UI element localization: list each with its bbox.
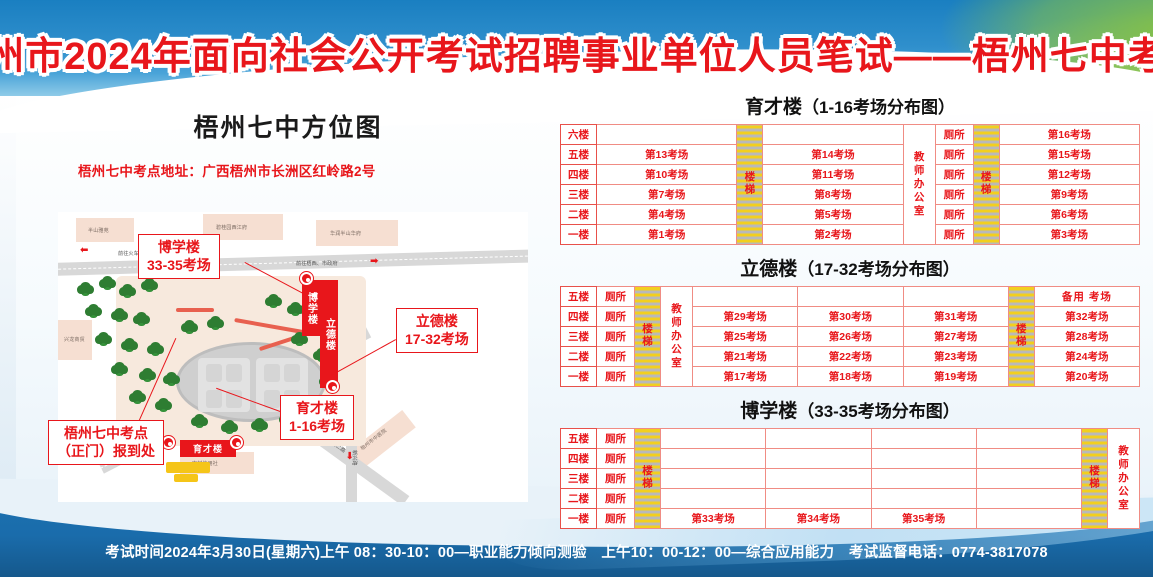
map-tree	[136, 312, 147, 323]
cell-floor: 五楼	[561, 429, 597, 449]
map-court	[226, 364, 242, 382]
table-lide: 五楼 厕所 楼梯 教师办公室 楼梯 备用 考场 四楼 厕所 第29考场 第30考…	[560, 286, 1140, 387]
callout-yucai: 育才楼 1-16考场	[280, 395, 354, 440]
cell-room: 第30考场	[798, 307, 903, 327]
map-tree	[122, 284, 133, 295]
cell-room	[766, 469, 871, 489]
cell-room: 第11考场	[763, 165, 903, 185]
table-row: 六楼 楼梯 教师办公室 厕所 楼梯 第16考场	[561, 125, 1140, 145]
cell-room: 第22考场	[798, 347, 903, 367]
map-address: 梧州七中考点地址：广西梧州市长洲区红岭路2号	[78, 160, 558, 180]
cell-room: 第9考场	[999, 185, 1139, 205]
cell-wc: 厕所	[597, 287, 635, 307]
cell-room: 第24考场	[1034, 347, 1139, 367]
map-tree	[268, 294, 279, 305]
map-tree	[142, 368, 153, 379]
cell-floor: 三楼	[561, 327, 597, 347]
cell-room: 第1考场	[597, 225, 737, 245]
callout-line1: 博学楼	[147, 239, 211, 257]
table-title-lide: 立德楼（17-32考场分布图）	[560, 254, 1140, 281]
cell-wc: 厕所	[597, 347, 635, 367]
cell-room	[597, 125, 737, 145]
cell-stairs-left: 楼梯	[635, 287, 661, 387]
map-tree	[184, 320, 195, 331]
map-tree	[158, 398, 169, 409]
cell-room: 第25考场	[693, 327, 798, 347]
table-title-boxue: 博学楼（33-35考场分布图）	[560, 396, 1140, 423]
map-tree	[144, 278, 155, 289]
table-title-paren: （33-35考场分布图）	[797, 402, 959, 421]
map-tree	[124, 338, 135, 349]
cell-office: 教师办公室	[903, 125, 935, 245]
cell-wc: 厕所	[597, 489, 635, 509]
cell-office: 教师办公室	[1108, 429, 1140, 529]
stairs-label: 楼梯	[742, 171, 757, 196]
map-tree	[132, 390, 143, 401]
map-building-yucai: 育才楼	[180, 440, 236, 457]
callout-line2: 33-35考场	[147, 257, 211, 275]
cell-room	[871, 429, 976, 449]
cell-room: 第12考场	[999, 165, 1139, 185]
cell-wc: 厕所	[597, 327, 635, 347]
map-pin-lide[interactable]	[326, 380, 339, 393]
map-building-boxue: 博学楼	[302, 280, 320, 336]
cell-floor: 二楼	[561, 489, 597, 509]
cell-wc: 厕所	[935, 205, 973, 225]
arrow-down-icon: ➡	[344, 451, 355, 459]
cell-floor: 一楼	[561, 225, 597, 245]
cell-room	[976, 449, 1081, 469]
stairs-label: 楼梯	[1087, 465, 1102, 490]
table-yucai: 六楼 楼梯 教师办公室 厕所 楼梯 第16考场 五楼 第13考场 第14考场 厕…	[560, 124, 1140, 245]
cell-room: 第4考场	[597, 205, 737, 225]
arrow-left-icon: ⬅	[80, 245, 88, 256]
cell-room	[903, 287, 1008, 307]
table-row: 四楼 第10考场 第11考场 厕所 第12考场	[561, 165, 1140, 185]
cell-stairs-left: 楼梯	[635, 429, 661, 529]
cell-room	[976, 429, 1081, 449]
map-tree	[88, 304, 99, 315]
map-tree	[194, 414, 205, 425]
cell-stairs-right: 楼梯	[973, 125, 999, 245]
footer-bar: 考试时间2024年3月30日(星期六)上午 08：30-10：00—职业能力倾向…	[0, 525, 1153, 577]
map-tree	[114, 362, 125, 373]
arrow-right-icon: ➡	[370, 256, 378, 267]
map-tree	[290, 302, 301, 313]
table-title-main: 博学楼	[740, 401, 797, 422]
map-tree	[254, 418, 265, 429]
cell-wc: 厕所	[935, 125, 973, 145]
cell-room: 第5考场	[763, 205, 903, 225]
map-hedge	[176, 308, 214, 312]
table-row: 五楼 厕所 楼梯 教师办公室 楼梯 备用 考场	[561, 287, 1140, 307]
map-block-label: 碧桂园西江府	[216, 224, 247, 231]
cell-wc: 厕所	[935, 185, 973, 205]
table-title-paren: （1-16考场分布图）	[802, 98, 955, 117]
map-pin-boxue[interactable]	[300, 272, 313, 285]
map-tree	[102, 276, 113, 287]
map-court	[206, 390, 222, 408]
cell-room	[976, 489, 1081, 509]
cell-wc: 厕所	[935, 145, 973, 165]
cell-room: 第16考场	[999, 125, 1139, 145]
cell-wc: 厕所	[935, 165, 973, 185]
map-road-label: 前往梧西、市政府	[296, 260, 338, 267]
table-title-yucai: 育才楼（1-16考场分布图）	[560, 92, 1140, 119]
table-title-paren: （17-32考场分布图）	[797, 260, 959, 279]
cell-floor: 五楼	[561, 287, 597, 307]
cell-room: 第8考场	[763, 185, 903, 205]
map-tree	[150, 342, 161, 353]
map-tree	[166, 372, 177, 383]
cell-room: 第18考场	[798, 367, 903, 387]
cell-room: 第2考场	[763, 225, 903, 245]
table-row: 二楼 第4考场 第5考场 厕所 第6考场	[561, 205, 1140, 225]
table-row: 五楼 厕所 楼梯 楼梯 教师办公室	[561, 429, 1140, 449]
cell-room: 第27考场	[903, 327, 1008, 347]
cell-floor: 三楼	[561, 185, 597, 205]
map-tree	[98, 332, 109, 343]
cell-room: 第17考场	[693, 367, 798, 387]
stairs-label: 楼梯	[979, 171, 994, 196]
map-court	[206, 364, 222, 382]
map-tree	[210, 316, 221, 327]
cell-room: 第13考场	[597, 145, 737, 165]
cell-wc: 厕所	[597, 429, 635, 449]
cell-spare-room: 备用 考场	[1034, 287, 1139, 307]
cell-room	[871, 469, 976, 489]
map-block-label: 兴龙商贸	[64, 336, 85, 343]
cell-room	[661, 469, 766, 489]
table-title-main: 立德楼	[740, 259, 797, 280]
cell-room: 第32考场	[1034, 307, 1139, 327]
cell-room	[766, 449, 871, 469]
cell-room: 第6考场	[999, 205, 1139, 225]
cell-wc: 厕所	[935, 225, 973, 245]
cell-room: 第20考场	[1034, 367, 1139, 387]
cell-room	[661, 429, 766, 449]
background-left-strip	[0, 86, 16, 518]
cell-floor: 五楼	[561, 145, 597, 165]
table-title-main: 育才楼	[745, 97, 802, 118]
cell-room	[976, 469, 1081, 489]
cell-room	[661, 489, 766, 509]
cell-stairs-right: 楼梯	[1008, 287, 1034, 387]
cell-wc: 厕所	[597, 469, 635, 489]
cell-room: 第14考场	[763, 145, 903, 165]
table-boxue: 五楼 厕所 楼梯 楼梯 教师办公室 四楼 厕所	[560, 428, 1140, 529]
cell-room: 第19考场	[903, 367, 1008, 387]
map-block-label: 华润半山华府	[330, 230, 361, 237]
cell-floor: 四楼	[561, 307, 597, 327]
map-court	[284, 364, 300, 382]
stairs-label: 楼梯	[640, 323, 655, 348]
callout-line2: （正门）报到处	[57, 443, 155, 461]
table-row: 一楼 第1考场 第2考场 厕所 第3考场	[561, 225, 1140, 245]
cell-floor: 二楼	[561, 205, 597, 225]
map-bus-icon	[166, 462, 210, 473]
cell-room: 第23考场	[903, 347, 1008, 367]
cell-office: 教师办公室	[661, 287, 693, 387]
stairs-label: 楼梯	[640, 465, 655, 490]
poster-root: 梧州市2024年面向社会公开考试招聘事业单位人员笔试——梧州七中考点 梧州七中方…	[0, 0, 1153, 577]
cell-room: 第26考场	[798, 327, 903, 347]
cell-room: 第21考场	[693, 347, 798, 367]
title-banner: 梧州市2024年面向社会公开考试招聘事业单位人员笔试——梧州七中考点	[0, 24, 1153, 80]
callout-line2: 1-16考场	[289, 418, 345, 436]
callout-line1: 立德楼	[405, 313, 469, 331]
cell-wc: 厕所	[597, 307, 635, 327]
callout-boxue: 博学楼 33-35考场	[138, 234, 220, 279]
cell-floor: 二楼	[561, 347, 597, 367]
cell-stairs-left: 楼梯	[737, 125, 763, 245]
cell-wc: 厕所	[597, 367, 635, 387]
callout-lide: 立德楼 17-32考场	[396, 308, 478, 353]
map-pin-yucai[interactable]	[230, 436, 243, 449]
cell-room	[798, 287, 903, 307]
cell-room	[693, 287, 798, 307]
cell-floor: 三楼	[561, 469, 597, 489]
tables-panel: 育才楼（1-16考场分布图） 六楼 楼梯 教师办公室 厕所 楼梯 第16考场 五…	[560, 92, 1140, 522]
map-tree	[114, 308, 125, 319]
map-block-label: 半山雅苑	[88, 227, 109, 234]
cell-room: 第7考场	[597, 185, 737, 205]
cell-room: 第15考场	[999, 145, 1139, 165]
map-tree	[224, 420, 235, 431]
map-panel: 梧州七中方位图 梧州七中考点地址：广西梧州市长洲区红岭路2号 半山雅苑 碧桂园西…	[18, 100, 558, 512]
table-row: 三楼 第7考场 第8考场 厕所 第9考场	[561, 185, 1140, 205]
cell-room	[766, 429, 871, 449]
cell-room: 第29考场	[693, 307, 798, 327]
cell-room	[766, 489, 871, 509]
map-court	[264, 364, 280, 382]
cell-floor: 四楼	[561, 165, 597, 185]
poster-title: 梧州市2024年面向社会公开考试招聘事业单位人员笔试——梧州七中考点	[0, 25, 1153, 80]
map-tree	[80, 282, 91, 293]
table-row: 五楼 第13考场 第14考场 厕所 第15考场	[561, 145, 1140, 165]
callout-line2: 17-32考场	[405, 331, 469, 349]
cell-room: 第3考场	[999, 225, 1139, 245]
cell-stairs-right: 楼梯	[1082, 429, 1108, 529]
map-title: 梧州七中方位图	[18, 108, 558, 144]
cell-room	[661, 449, 766, 469]
cell-wc: 厕所	[597, 449, 635, 469]
cell-room	[871, 489, 976, 509]
footer-exam-info: 考试时间2024年3月30日(星期六)上午 08：30-10：00—职业能力倾向…	[105, 541, 1047, 562]
cell-floor: 四楼	[561, 449, 597, 469]
cell-room: 第28考场	[1034, 327, 1139, 347]
callout-main-gate: 梧州七中考点 （正门）报到处	[48, 420, 164, 465]
cell-floor: 六楼	[561, 125, 597, 145]
cell-floor: 一楼	[561, 367, 597, 387]
stairs-label: 楼梯	[1014, 323, 1029, 348]
cell-room	[763, 125, 903, 145]
callout-line1: 育才楼	[289, 400, 345, 418]
cell-room: 第10考场	[597, 165, 737, 185]
map-bus-icon	[174, 474, 198, 482]
cell-room: 第31考场	[903, 307, 1008, 327]
cell-room	[871, 449, 976, 469]
callout-line1: 梧州七中考点	[57, 425, 155, 443]
